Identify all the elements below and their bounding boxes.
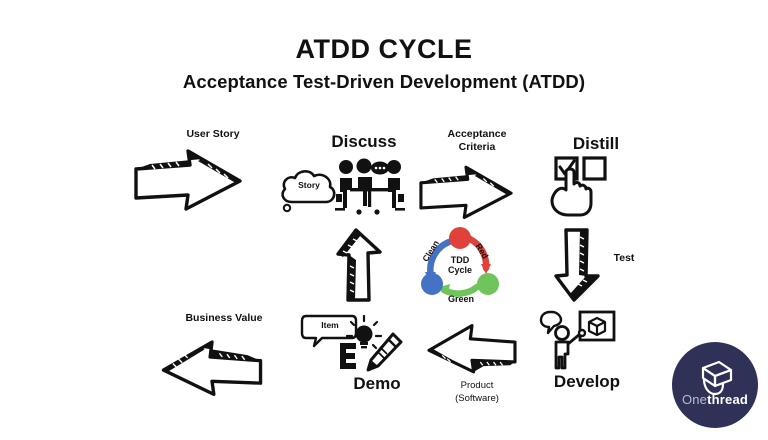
step-product-software: Product (Software) [420,314,532,406]
tdd-node-red [449,227,471,249]
step-label-discuss: Discuss [320,132,408,152]
page-subtitle: Acceptance Test-Driven Development (ATDD… [0,71,768,93]
step-label-develop: Develop [536,372,638,392]
step-demo: Item [300,310,420,394]
onethread-logo[interactable]: Onethread [672,342,758,428]
step-test: Test [548,226,658,306]
step-label-product-software: Product (Software) [422,380,532,406]
tdd-node-green [477,273,499,295]
step-develop: Develop [528,310,638,392]
step-business-value: Business Value [150,312,290,399]
right-arrow-icon [414,156,518,226]
step-label-business-value: Business Value [158,312,290,325]
step-up-arrow [330,224,388,304]
step-label-acceptance-criteria: Acceptance Criteria [420,128,534,154]
step-discuss: Discuss Story [278,132,408,222]
story-bubble-label: Story [292,180,326,190]
step-label-distill: Distill [552,134,640,154]
pencil-icon [362,332,404,376]
left-arrow-icon [150,329,274,399]
step-distill: Distill [530,134,640,218]
step-label-test: Test [606,252,642,265]
step-label-demo: Demo [334,374,420,394]
left-arrow-icon [420,314,524,376]
step-label-user-story: User Story [170,128,256,141]
tdd-cycle-diagram: Red Green Clean TDD Cycle [412,224,508,310]
tdd-label-green: Green [448,294,474,304]
logo-word-thread: thread [707,392,748,407]
page-title: ATDD CYCLE [0,34,768,65]
checklist-icon [336,340,364,372]
person-presenting-icon [540,310,618,370]
title-block: ATDD CYCLE Acceptance Test-Driven Develo… [0,34,768,93]
right-arrow-icon [128,141,248,216]
logo-circle: Onethread [672,342,758,428]
step-acceptance-criteria: Acceptance Criteria [414,128,534,226]
step-user-story: User Story [128,128,256,216]
meeting-people-icon [334,158,406,220]
down-arrow-icon [548,226,606,306]
checkbox-hand-click-icon [544,156,622,218]
logo-wordmark: Onethread [672,393,758,406]
up-arrow-icon [330,224,388,304]
logo-word-one: One [682,392,707,407]
slide-canvas: ATDD CYCLE Acceptance Test-Driven Develo… [0,0,768,440]
tdd-node-clean [421,273,443,295]
